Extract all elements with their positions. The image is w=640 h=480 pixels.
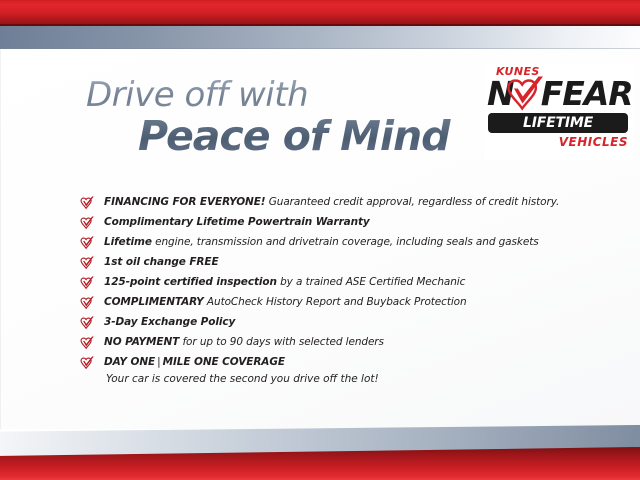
red-heart-check-icon [80, 236, 95, 250]
benefit-item: Lifetime engine, transmission and drivet… [80, 232, 590, 252]
benefit-item: Complimentary Lifetime Powertrain Warran… [80, 212, 590, 232]
headline-line-1: Drive off with [86, 78, 486, 113]
red-heart-check-icon [80, 296, 95, 310]
benefit-headline: COMPLIMENTARY [104, 296, 204, 308]
benefit-headline: 1st oil change FREE [104, 256, 219, 268]
benefit-separator: | [155, 356, 163, 368]
benefit-item: NO PAYMENT for up to 90 days with select… [80, 332, 590, 352]
benefit-item: 1st oil change FREE [80, 252, 590, 272]
benefit-detail: by a trained ASE Certified Mechanic [277, 276, 465, 288]
benefit-item: DAY ONE|MILE ONE COVERAGEYour car is cov… [80, 352, 590, 387]
logo-suffix-vehicles: VEHICLES [559, 135, 628, 149]
red-heart-check-icon [80, 336, 95, 350]
benefit-headline: 3-Day Exchange Policy [104, 316, 235, 328]
benefit-detail: Guaranteed credit approval, regardless o… [266, 196, 560, 208]
top-red-stripe [0, 0, 640, 26]
kunes-no-fear-logo: KUNES NOFEAR LIFETIME CERTIFIED VEHICLES [484, 65, 634, 160]
logo-badge-lifetime-certified: LIFETIME CERTIFIED [488, 113, 628, 133]
benefit-detail: engine, transmission and drivetrain cove… [152, 236, 539, 248]
benefit-item: COMPLIMENTARY AutoCheck History Report a… [80, 292, 590, 312]
promotional-banner: Drive off with Peace of Mind KUNES NOFEA… [0, 0, 640, 480]
red-heart-check-icon [80, 196, 95, 210]
benefit-item: 125-point certified inspection by a trai… [80, 272, 590, 292]
benefit-headline: FINANCING FOR EVERYONE! [104, 196, 266, 208]
benefit-subtext: Your car is covered the second you drive… [106, 372, 590, 387]
red-heart-check-icon [80, 256, 95, 270]
benefit-headline: 125-point certified inspection [104, 276, 277, 288]
red-heart-check-icon [80, 216, 95, 230]
headline-line-2: Peace of Mind [138, 115, 486, 158]
logo-wordmark-part2: FEAR [541, 74, 633, 113]
top-slate-stripe [0, 26, 640, 49]
benefit-detail: for up to 90 days with selected lenders [179, 336, 384, 348]
benefit-headline: NO PAYMENT [104, 336, 179, 348]
benefits-list: FINANCING FOR EVERYONE! Guaranteed credi… [80, 192, 590, 387]
benefit-item: 3-Day Exchange Policy [80, 312, 590, 332]
red-heart-check-icon [80, 356, 95, 370]
benefit-headline: DAY ONE [104, 356, 155, 368]
benefit-detail: AutoCheck History Report and Buyback Pro… [204, 296, 467, 308]
benefit-headline: Lifetime [104, 236, 152, 248]
red-heart-check-icon [80, 276, 95, 290]
benefit-item: FINANCING FOR EVERYONE! Guaranteed credi… [80, 192, 590, 212]
red-heart-check-icon [80, 316, 95, 330]
page-title: Drive off with Peace of Mind [86, 78, 486, 158]
left-edge-divider [0, 49, 1, 429]
red-heart-check-icon [506, 75, 546, 113]
benefit-headline: Complimentary Lifetime Powertrain Warran… [104, 216, 370, 228]
benefit-headline-secondary: MILE ONE COVERAGE [163, 356, 285, 368]
